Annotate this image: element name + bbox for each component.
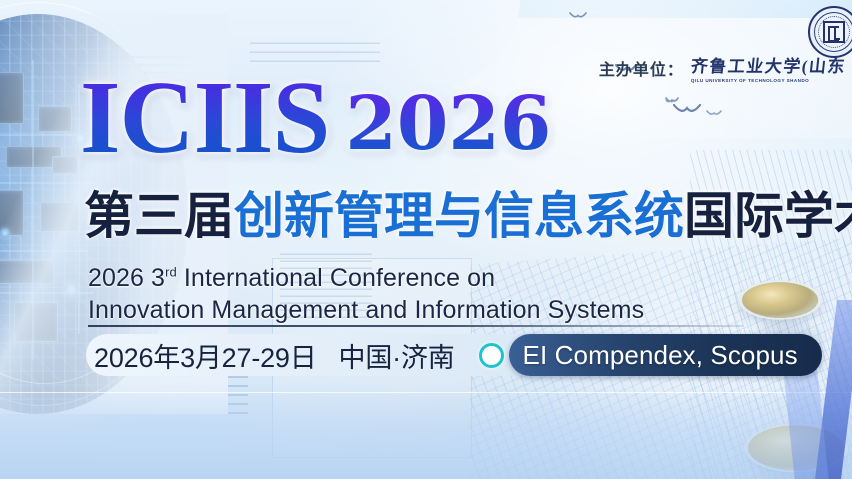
- university-name-en: QILU UNIVERSITY OF TECHNOLOGY SHANDO: [691, 78, 809, 83]
- conference-acronym: ICIIS: [76, 66, 333, 170]
- organizer-label: 主办单位：: [599, 56, 684, 80]
- indexing-pill: EI Compendex, Scopus: [509, 334, 822, 376]
- chinese-title: 第三届创新管理与信息系统国际学术会议: [84, 189, 852, 243]
- bird-icon-4: [673, 103, 701, 117]
- conference-info-bar: 2026年3月27-29日 中国·济南 EI Compendex, Scopus: [86, 334, 822, 376]
- floor-gradient: [0, 383, 852, 479]
- wafer-disc-right: [742, 282, 818, 318]
- university-seal-icon: [808, 6, 852, 58]
- floor-highlight-line: [0, 392, 852, 393]
- english-title-line1-post: International Conference on: [177, 264, 495, 292]
- english-title-line1: 2026 3rd International Conference on: [88, 262, 644, 294]
- conference-banner: 主办单位： 齐鲁工业大学(山东 QILU UNIVERSITY OF TECHN…: [0, 0, 852, 479]
- circle-marker-icon: [479, 343, 504, 368]
- english-title-line2: Innovation Management and Information Sy…: [88, 294, 644, 326]
- bird-icon-5: [706, 110, 722, 118]
- chinese-title-highlight: 创新管理与信息系统: [234, 188, 684, 244]
- indexing-databases: EI Compendex, Scopus: [523, 340, 798, 371]
- conference-date: 2026年3月27-29日: [94, 336, 317, 375]
- conference-year: 2026: [345, 87, 551, 161]
- english-title: 2026 3rd International Conference on Inn…: [88, 262, 644, 326]
- conference-city: 中国·济南: [339, 336, 455, 375]
- texture-lines-d: [250, 36, 380, 62]
- ordinal-suffix: rd: [165, 265, 177, 280]
- bird-icon-6: [569, 12, 587, 21]
- chinese-title-suffix: 国际学术会议: [684, 188, 852, 244]
- organizer-block: 主办单位： 齐鲁工业大学(山东 QILU UNIVERSITY OF TECHN…: [599, 52, 846, 83]
- english-title-line1-pre: 2026 3: [88, 264, 165, 292]
- info-bar-left: 2026年3月27-29日 中国·济南: [86, 334, 525, 376]
- university-name-block: 齐鲁工业大学(山东 QILU UNIVERSITY OF TECHNOLOGY …: [691, 52, 846, 83]
- chinese-title-prefix: 第三届: [84, 188, 234, 244]
- title-divider: [88, 325, 743, 327]
- main-title-row: ICIIS 2026: [76, 66, 551, 170]
